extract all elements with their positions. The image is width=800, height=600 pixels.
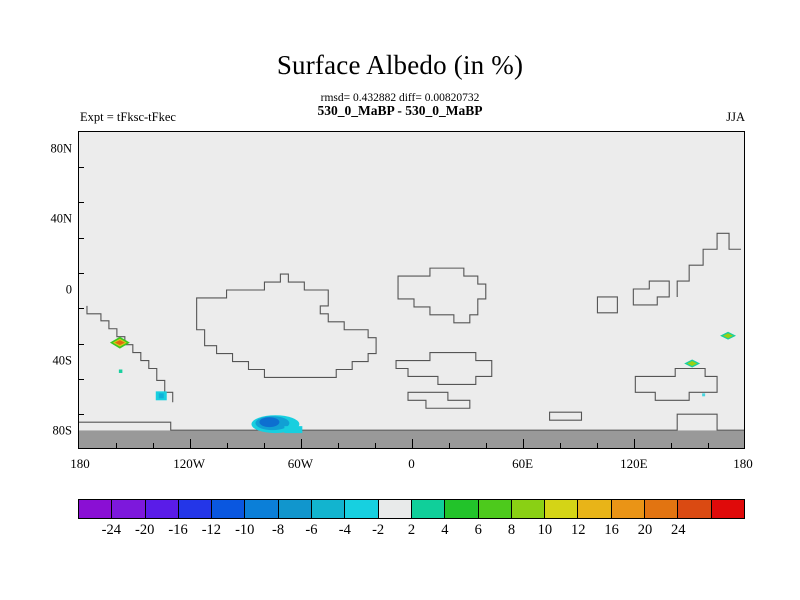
colorbar[interactable] <box>78 499 745 519</box>
colorbar-swatch[interactable] <box>379 500 412 518</box>
colorbar-swatch[interactable] <box>245 500 278 518</box>
x-axis-tick-label: 180 <box>733 456 753 472</box>
chart-title: Surface Albedo (in %) <box>0 50 800 81</box>
colorbar-swatch[interactable] <box>612 500 645 518</box>
map-plot-area <box>78 131 745 449</box>
x-axis-minor-tick <box>449 443 450 448</box>
x-axis-major-tick <box>190 439 191 448</box>
y-axis-tick-label: 80S <box>53 424 72 439</box>
x-axis-minor-tick <box>375 443 376 448</box>
y-axis-minor-tick <box>79 414 84 415</box>
colorbar-tick-label: 16 <box>604 522 619 539</box>
y-axis-minor-tick <box>79 167 84 168</box>
x-axis-minor-tick <box>264 443 265 448</box>
colorbar-tick-label: 12 <box>571 522 586 539</box>
colorbar-tick-label: -4 <box>339 522 351 539</box>
colorbar-tick-label: -16 <box>168 522 187 539</box>
colorbar-swatch[interactable] <box>712 500 744 518</box>
colorbar-swatch[interactable] <box>512 500 545 518</box>
x-axis-minor-tick <box>227 443 228 448</box>
anomaly-south-pacific-small <box>119 369 122 372</box>
x-axis-major-tick <box>301 439 302 448</box>
x-axis-minor-tick <box>671 443 672 448</box>
y-axis-minor-tick <box>79 344 84 345</box>
x-axis-major-tick <box>523 439 524 448</box>
x-axis-tick-label: 60W <box>288 456 313 472</box>
y-axis-tick-label: 80N <box>50 141 72 156</box>
colorbar-swatch[interactable] <box>412 500 445 518</box>
colorbar-tick-label: 4 <box>441 522 448 539</box>
colorbar-tick-label: -12 <box>202 522 221 539</box>
x-axis-minor-tick <box>116 443 117 448</box>
y-axis-minor-tick <box>79 202 84 203</box>
figure-canvas: Surface Albedo (in %) rmsd= 0.432882 dif… <box>0 0 800 600</box>
colorbar-tick-label: 10 <box>538 522 553 539</box>
y-axis-minor-tick <box>79 238 84 239</box>
colorbar-tick-label: -6 <box>305 522 317 539</box>
x-axis-minor-tick <box>560 443 561 448</box>
colorbar-swatch[interactable] <box>312 500 345 518</box>
x-axis-minor-tick <box>597 443 598 448</box>
x-axis-tick-label: 120W <box>173 456 205 472</box>
y-axis-minor-tick <box>79 308 84 309</box>
colorbar-swatch[interactable] <box>146 500 179 518</box>
colorbar-tick-label: 8 <box>508 522 515 539</box>
x-axis-tick-label: 180 <box>70 456 90 472</box>
colorbar-swatch[interactable] <box>445 500 478 518</box>
colorbar-tick-label: 20 <box>638 522 653 539</box>
colorbar-tick-label: -10 <box>235 522 254 539</box>
map-graphic <box>79 132 744 448</box>
anomaly-patagonia-cool <box>156 391 167 400</box>
colorbar-swatch[interactable] <box>645 500 678 518</box>
colorbar-swatch[interactable] <box>179 500 212 518</box>
colorbar-tick-label: 6 <box>475 522 482 539</box>
x-axis-tick-label: 120E <box>620 456 647 472</box>
colorbar-swatch[interactable] <box>578 500 611 518</box>
colorbar-swatch[interactable] <box>345 500 378 518</box>
x-axis-tick-label: 60E <box>512 456 533 472</box>
colorbar-tick-label: -8 <box>272 522 284 539</box>
season-label: JJA <box>726 110 745 125</box>
y-axis-tick-label: 40S <box>53 353 72 368</box>
x-axis-minor-tick <box>153 443 154 448</box>
x-axis-major-tick <box>634 439 635 448</box>
colorbar-tick-label: -24 <box>102 522 121 539</box>
colorbar-swatch[interactable] <box>112 500 145 518</box>
x-axis-minor-tick <box>708 443 709 448</box>
colorbar-tick-label: 2 <box>408 522 415 539</box>
colorbar-tick-label: -2 <box>372 522 384 539</box>
x-axis-major-tick <box>412 439 413 448</box>
anomaly-speck <box>702 393 705 396</box>
y-axis-tick-label: 40N <box>50 212 72 227</box>
colorbar-swatch[interactable] <box>678 500 711 518</box>
y-axis-minor-tick <box>79 379 84 380</box>
colorbar-tick-label: -20 <box>135 522 154 539</box>
colorbar-swatch[interactable] <box>79 500 112 518</box>
x-axis-minor-tick <box>338 443 339 448</box>
x-axis-tick-label: 0 <box>408 456 415 472</box>
colorbar-swatch[interactable] <box>279 500 312 518</box>
colorbar-swatch[interactable] <box>545 500 578 518</box>
y-axis-labels: 80N40N040S80S <box>0 131 72 449</box>
x-axis-minor-tick <box>486 443 487 448</box>
colorbar-swatch[interactable] <box>479 500 512 518</box>
colorbar-labels: -24-20-16-12-10-8-6-4-224681012162024 <box>78 522 745 544</box>
y-axis-tick-label: 0 <box>66 283 72 298</box>
experiment-label: Expt = tFksc-tFkec <box>80 110 176 125</box>
colorbar-tick-label: 24 <box>671 522 686 539</box>
colorbar-swatch[interactable] <box>212 500 245 518</box>
y-axis-minor-tick <box>79 273 84 274</box>
x-axis-labels: 180120W60W060E120E180 <box>78 456 745 476</box>
